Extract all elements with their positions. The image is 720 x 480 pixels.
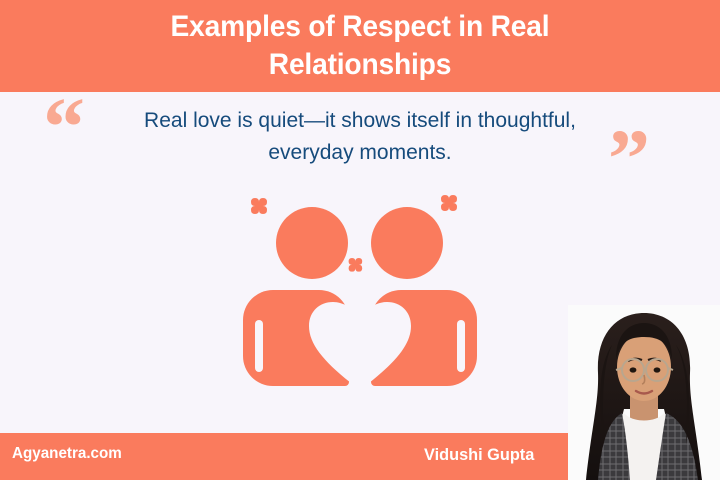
quote-section: “ Real love is quiet—it shows itself in … [0, 92, 720, 202]
site-name: Agyanetra.com [12, 445, 122, 463]
author-name: Vidushi Gupta [424, 445, 534, 465]
person-head-right [371, 207, 443, 279]
sparkle-icon [441, 195, 457, 211]
sparkle-icon [251, 198, 267, 214]
quote-text: Real love is quiet—it shows itself in th… [130, 105, 590, 168]
author-portrait [568, 305, 720, 480]
couple-heart-illustration [235, 190, 485, 405]
sparkle-icon [349, 258, 363, 272]
arm-slit-left [255, 320, 263, 372]
person-head-left [276, 207, 348, 279]
opening-quote-icon: “ [43, 86, 85, 170]
eye-left [630, 367, 637, 372]
header-bar: Examples of Respect in Real Relationship… [0, 0, 720, 92]
page-title: Examples of Respect in Real Relationship… [87, 8, 632, 85]
eye-right [654, 367, 661, 372]
poster-canvas: Examples of Respect in Real Relationship… [0, 0, 720, 480]
closing-quote-icon: ” [608, 118, 650, 202]
arm-slit-right [457, 320, 465, 372]
